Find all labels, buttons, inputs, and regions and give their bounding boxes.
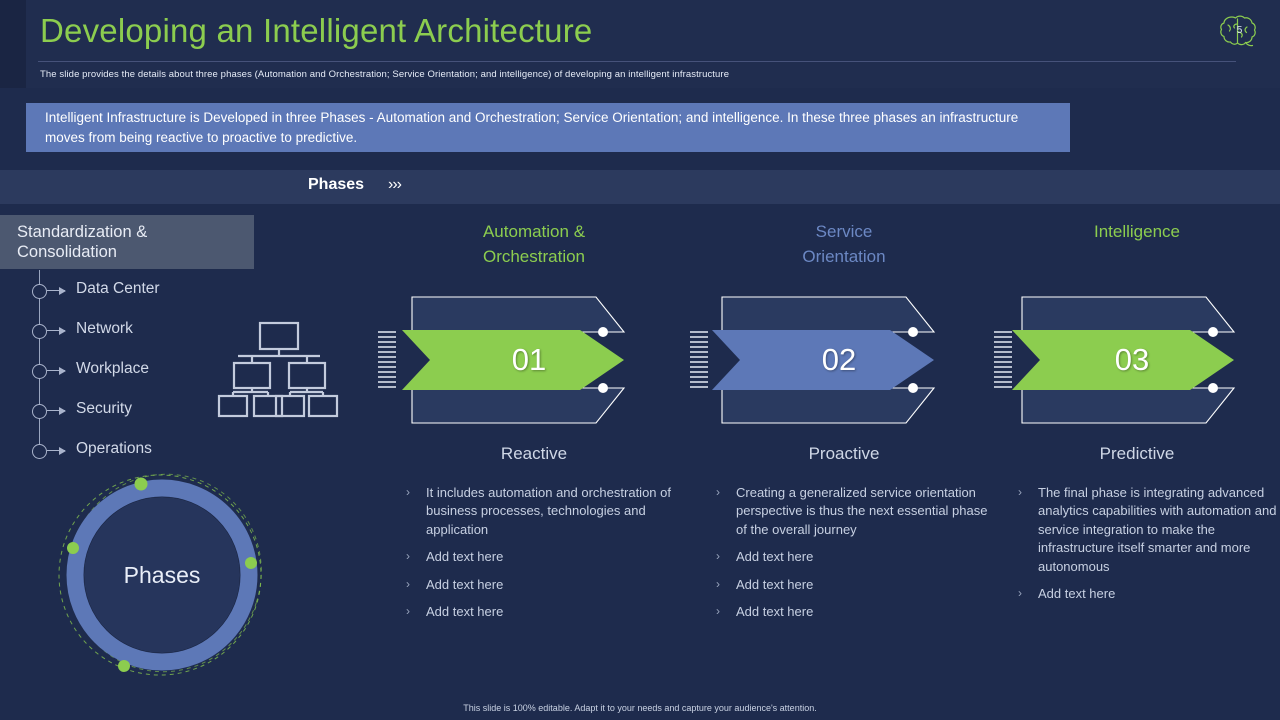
- phase-title-line2: Orientation: [694, 245, 994, 270]
- bullet-text: Add text here: [736, 577, 813, 592]
- arrow-right-icon: [47, 290, 65, 292]
- callout-text: Intelligent Infrastructure is Developed …: [45, 108, 1054, 147]
- list-item: ›The final phase is integrating advanced…: [1016, 484, 1280, 576]
- bullet-text: Add text here: [1038, 586, 1115, 601]
- arrow-right-icon: [47, 370, 65, 372]
- header-accent-stripe: [0, 0, 26, 88]
- phase-chevron-graphic[interactable]: 03: [994, 280, 1280, 440]
- standardization-heading-line2: Consolidation: [17, 242, 254, 262]
- node-circle-icon: [32, 444, 47, 459]
- callout-banner: Intelligent Infrastructure is Developed …: [26, 103, 1070, 152]
- list-item: ›Creating a generalized service orientat…: [714, 484, 994, 539]
- barcode-icon: [690, 330, 708, 392]
- phase-title: Service Orientation: [694, 220, 994, 280]
- phase-bullet-list: ›The final phase is integrating advanced…: [994, 484, 1280, 604]
- bullet-chevron-icon: ›: [406, 576, 410, 593]
- phase-title: Intelligence: [994, 220, 1280, 280]
- phase-column-2: Service Orientation 02 Proactive: [694, 220, 994, 631]
- bullet-chevron-icon: ›: [1018, 585, 1022, 602]
- bullet-text: It includes automation and orchestration…: [426, 485, 671, 537]
- arrow-right-icon: [47, 410, 65, 412]
- bullet-text: Add text here: [426, 604, 503, 619]
- slide-footer-note: This slide is 100% editable. Adapt it to…: [0, 703, 1280, 713]
- phases-bar-label: Phases: [308, 176, 364, 194]
- phase-chevron-graphic[interactable]: 02: [694, 280, 994, 440]
- slide-header: Developing an Intelligent Architecture T…: [0, 0, 1280, 88]
- sidebar-item-label: Security: [76, 400, 132, 418]
- slide-canvas: Developing an Intelligent Architecture T…: [0, 0, 1280, 720]
- phase-state-label: Proactive: [694, 444, 994, 464]
- phase-title-line1: Service: [694, 220, 994, 245]
- slide-number: 5: [1216, 8, 1262, 52]
- phase-column-3: Intelligence 03 Predictive ›The: [994, 220, 1280, 613]
- list-item: ›Add text here: [404, 603, 684, 621]
- sidebar-item-label: Network: [76, 320, 133, 338]
- bullet-chevron-icon: ›: [406, 484, 410, 501]
- arrow-right-icon: [47, 450, 65, 452]
- bullet-text: Creating a generalized service orientati…: [736, 485, 987, 537]
- sidebar-item-label: Data Center: [76, 280, 160, 298]
- bullet-chevron-icon: ›: [716, 484, 720, 501]
- brain-icon: 5: [1216, 8, 1262, 52]
- phase-column-1: Automation & Orchestration 01 Reactive: [384, 220, 684, 631]
- bullet-text: Add text here: [736, 604, 813, 619]
- bullet-chevron-icon: ›: [716, 576, 720, 593]
- standardization-heading-line1: Standardization &: [17, 222, 254, 242]
- standardization-heading-box: Standardization & Consolidation: [0, 215, 254, 269]
- phase-chevron-graphic[interactable]: 01: [384, 280, 684, 440]
- bullet-chevron-icon: ›: [406, 548, 410, 565]
- bullet-chevron-icon: ›: [406, 603, 410, 620]
- chevron-right-icon: ›››: [388, 176, 401, 194]
- sidebar-item-label: Workplace: [76, 360, 149, 378]
- phase-state-label: Reactive: [384, 444, 684, 464]
- list-item: ›It includes automation and orchestratio…: [404, 484, 684, 539]
- arrow-right-icon: [47, 330, 65, 332]
- bullet-text: Add text here: [426, 549, 503, 564]
- node-circle-icon: [32, 404, 47, 419]
- phases-section-bar: Phases ›››: [0, 170, 1280, 204]
- barcode-icon: [378, 330, 396, 392]
- phase-state-label: Predictive: [994, 444, 1280, 464]
- list-item: ›Add text here: [714, 576, 994, 594]
- list-item: ›Add text here: [1016, 585, 1280, 603]
- phase-title-line1: Intelligence: [994, 220, 1280, 245]
- bullet-chevron-icon: ›: [716, 548, 720, 565]
- node-circle-icon: [32, 324, 47, 339]
- list-item: ›Add text here: [714, 603, 994, 621]
- list-item: ›Add text here: [714, 548, 994, 566]
- node-circle-icon: [32, 284, 47, 299]
- list-item: ›Add text here: [404, 576, 684, 594]
- phase-title: Automation & Orchestration: [384, 220, 684, 280]
- phase-bullet-list: ›It includes automation and orchestratio…: [384, 484, 684, 622]
- bullet-text: Add text here: [426, 577, 503, 592]
- phases-orbit-graphic: [55, 468, 269, 687]
- node-circle-icon: [32, 364, 47, 379]
- phase-bullet-list: ›Creating a generalized service orientat…: [694, 484, 994, 622]
- phase-title-line1: Automation &: [384, 220, 684, 245]
- sidebar-item-label: Operations: [76, 440, 152, 458]
- bullet-chevron-icon: ›: [716, 603, 720, 620]
- title-divider: [38, 61, 1236, 62]
- page-title: Developing an Intelligent Architecture: [40, 12, 592, 50]
- bullet-text: Add text here: [736, 549, 813, 564]
- hierarchy-tree-icon: [213, 318, 343, 423]
- barcode-icon: [994, 330, 1012, 392]
- bullet-chevron-icon: ›: [1018, 484, 1022, 501]
- list-item: ›Add text here: [404, 548, 684, 566]
- bullet-text: The final phase is integrating advanced …: [1038, 485, 1276, 574]
- phase-title-line2: Orchestration: [384, 245, 684, 270]
- page-subtitle: The slide provides the details about thr…: [40, 69, 729, 80]
